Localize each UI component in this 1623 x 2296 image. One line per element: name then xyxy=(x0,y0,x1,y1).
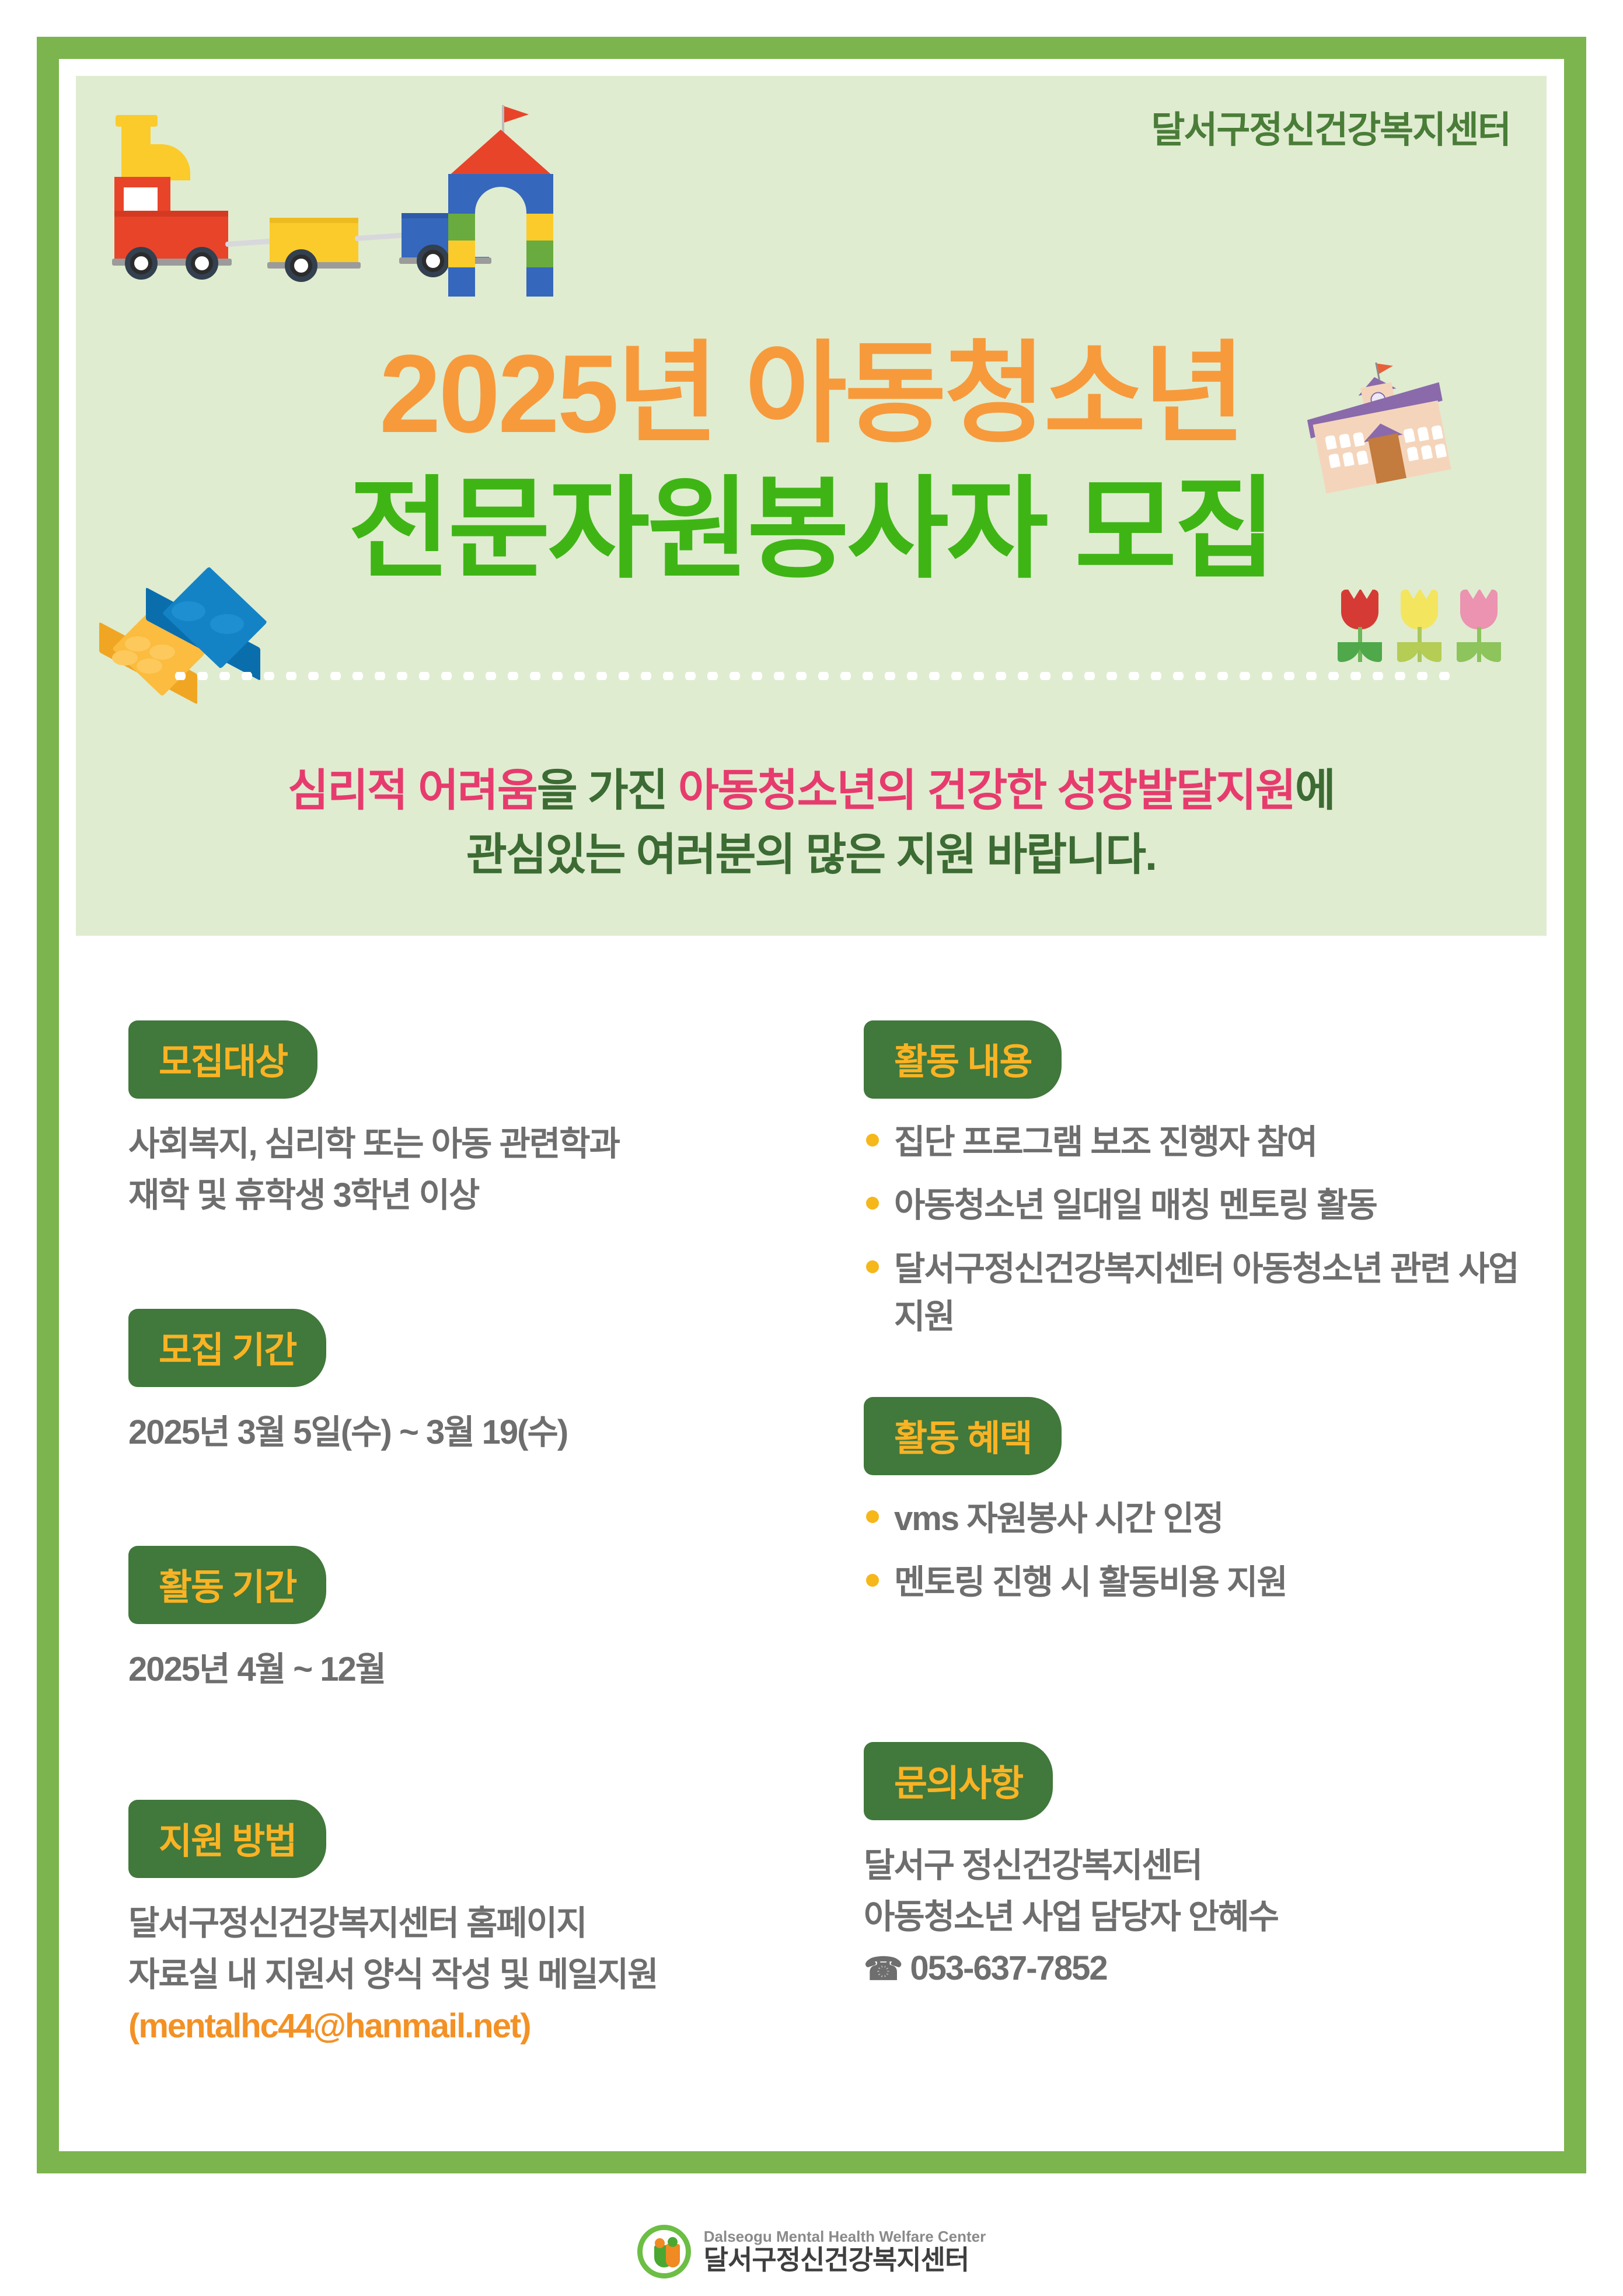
recruit-period-body: 2025년 3월 5일(수) ~ 3월 19(수) xyxy=(128,1407,788,1458)
poster-subtitle: 심리적 어려움을 가진 아동청소년의 건강한 성장발달지원에 관심있는 여러분의… xyxy=(76,759,1547,887)
activity-benefit-list: vms 자원봉사 시간 인정 멘토링 진행 시 활동비용 지원 xyxy=(864,1495,1523,1607)
section-activity-benefit: 활동 혜택 vms 자원봉사 시간 인정 멘토링 진행 시 활동비용 지원 xyxy=(864,1397,1523,1607)
subtitle-line-2: 관심있는 여러분의 많은 지원 바랍니다. xyxy=(76,823,1547,887)
activity-period-body: 2025년 4월 ~ 12월 xyxy=(128,1644,788,1695)
dotted-divider xyxy=(169,672,1459,680)
section-activity-period: 활동 기간 2025년 4월 ~ 12월 xyxy=(128,1546,788,1695)
title-line-1: 2025년 아동청소년 xyxy=(76,327,1547,462)
badge-activity-period: 활동 기간 xyxy=(128,1546,326,1624)
building-block-arch-icon xyxy=(420,99,572,251)
recruit-period-line-1: 2025년 3월 5일(수) ~ 3월 19(수) xyxy=(128,1407,788,1458)
apply-method-email-link[interactable]: (mentalhc44@hanmail.net) xyxy=(128,2001,788,2052)
left-column: 모집대상 사회복지, 심리학 또는 아동 관련학과 재학 및 휴학생 3학년 이… xyxy=(128,946,788,2052)
badge-recruit-period: 모집 기간 xyxy=(128,1309,326,1387)
subtitle-highlight-2: 아동청소년의 건강한 성장발달지원 xyxy=(678,766,1295,816)
apply-method-line-1: 달서구정신건강복지센터 홈페이지 xyxy=(128,1898,788,1949)
list-item: 아동청소년 일대일 매칭 멘토링 활동 xyxy=(864,1182,1523,1229)
list-item: 멘토링 진행 시 활동비용 지원 xyxy=(864,1559,1523,1607)
recruit-target-line-1: 사회복지, 심리학 또는 아동 관련학과 xyxy=(128,1119,788,1170)
inquiry-phone-row: ☎ 053-637-7852 xyxy=(864,1943,1523,1994)
list-item: 달서구정신건강복지센터 아동청소년 관련 사업 지원 xyxy=(864,1245,1523,1342)
subtitle-plain-1: 을 가진 xyxy=(537,766,678,816)
poster-root: 달서구정신건강복지센터 xyxy=(0,0,1623,2296)
inquiry-line-2: 아동청소년 사업 담당자 안혜수 xyxy=(864,1891,1523,1943)
organization-name-header: 달서구정신건강복지센터 xyxy=(1151,100,1510,154)
recruit-target-line-2: 재학 및 휴학생 3학년 이상 xyxy=(128,1170,788,1221)
inquiry-body: 달서구 정신건강복지센터 아동청소년 사업 담당자 안혜수 ☎ 053-637-… xyxy=(864,1840,1523,1994)
recruit-target-body: 사회복지, 심리학 또는 아동 관련학과 재학 및 휴학생 3학년 이상 xyxy=(128,1119,788,1221)
poster-title: 2025년 아동청소년 전문자원봉사자 모집 xyxy=(76,327,1547,598)
tulip-flowers-icon xyxy=(1336,578,1512,666)
section-inquiry: 문의사항 달서구 정신건강복지센터 아동청소년 사업 담당자 안혜수 ☎ 053… xyxy=(864,1742,1523,1994)
center-logo-icon xyxy=(637,2225,691,2278)
apply-method-line-2: 자료실 내 지원서 양식 작성 및 메일지원 xyxy=(128,1949,788,2001)
hero-panel: 달서구정신건강복지센터 xyxy=(76,76,1547,936)
subtitle-highlight-1: 심리적 어려움 xyxy=(288,766,537,816)
telephone-icon: ☎ xyxy=(864,1952,902,1987)
title-line-2: 전문자원봉사자 모집 xyxy=(76,462,1547,598)
right-column: 활동 내용 집단 프로그램 보조 진행자 참여 아동청소년 일대일 매칭 멘토링… xyxy=(864,946,1523,1995)
apply-method-body: 달서구정신건강복지센터 홈페이지 자료실 내 지원서 양식 작성 및 메일지원 … xyxy=(128,1898,788,2052)
section-recruit-target: 모집대상 사회복지, 심리학 또는 아동 관련학과 재학 및 휴학생 3학년 이… xyxy=(128,1020,788,1221)
section-apply-method: 지원 방법 달서구정신건강복지센터 홈페이지 자료실 내 지원서 양식 작성 및… xyxy=(128,1800,788,2052)
badge-apply-method: 지원 방법 xyxy=(128,1800,326,1878)
content-area: 모집대상 사회복지, 심리학 또는 아동 관련학과 재학 및 휴학생 3학년 이… xyxy=(76,946,1547,2160)
activity-content-list: 집단 프로그램 보조 진행자 참여 아동청소년 일대일 매칭 멘토링 활동 달서… xyxy=(864,1119,1523,1341)
inquiry-phone-number: 053-637-7852 xyxy=(910,1949,1107,1987)
inquiry-line-1: 달서구 정신건강복지센터 xyxy=(864,1840,1523,1891)
subtitle-line-1: 심리적 어려움을 가진 아동청소년의 건강한 성장발달지원에 xyxy=(76,759,1547,823)
badge-activity-content: 활동 내용 xyxy=(864,1020,1062,1099)
subtitle-plain-2: 에 xyxy=(1295,766,1335,816)
footer-logo-korean: 달서구정신건강복지센터 xyxy=(704,2245,986,2275)
badge-inquiry: 문의사항 xyxy=(864,1742,1053,1820)
badge-activity-benefit: 활동 혜택 xyxy=(864,1397,1062,1475)
badge-recruit-target: 모집대상 xyxy=(128,1020,317,1099)
footer-logo-text: Dalseogu Mental Health Welfare Center 달서… xyxy=(704,2228,986,2274)
footer-logo-english: Dalseogu Mental Health Welfare Center xyxy=(704,2228,986,2245)
section-activity-content: 활동 내용 집단 프로그램 보조 진행자 참여 아동청소년 일대일 매칭 멘토링… xyxy=(864,1020,1523,1341)
footer-logo: Dalseogu Mental Health Welfare Center 달서… xyxy=(0,2225,1623,2278)
list-item: 집단 프로그램 보조 진행자 참여 xyxy=(864,1119,1523,1166)
list-item: vms 자원봉사 시간 인정 xyxy=(864,1495,1523,1543)
activity-period-line-1: 2025년 4월 ~ 12월 xyxy=(128,1644,788,1695)
section-recruit-period: 모집 기간 2025년 3월 5일(수) ~ 3월 19(수) xyxy=(128,1309,788,1458)
